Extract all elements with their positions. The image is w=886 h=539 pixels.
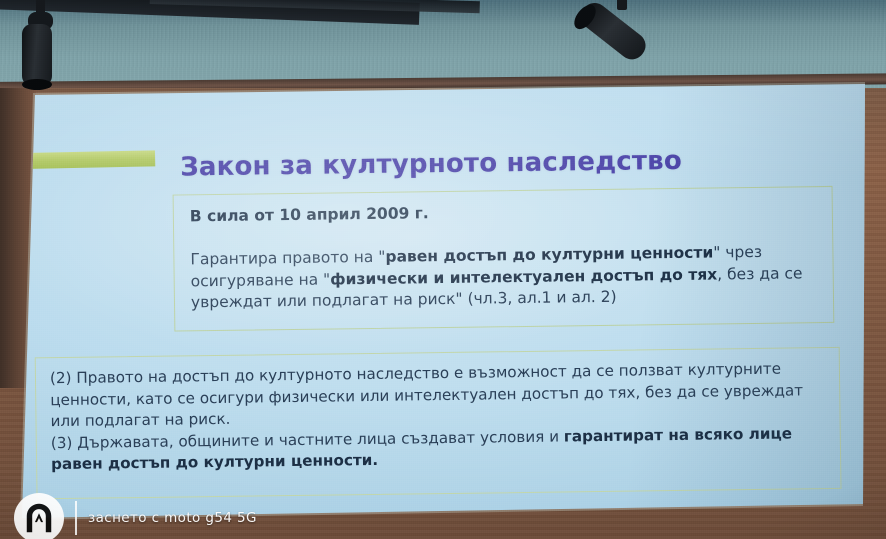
track-spotlight-right-icon xyxy=(575,0,675,68)
slide-text-box-top: В сила от 10 април 2009 г. Гарантира пра… xyxy=(173,186,835,332)
title-accent-bar xyxy=(29,150,155,169)
watermark-text: заснето с moto g54 5G xyxy=(88,510,257,526)
watermark-divider xyxy=(75,501,77,535)
slide-content: Закон за културното наследство В сила от… xyxy=(19,78,873,523)
guarantee-paragraph: Гарантира правото на "равен достъп до ку… xyxy=(190,241,816,314)
motorola-batwing-logo-icon xyxy=(14,493,64,539)
page-title: Закон за културното наследство xyxy=(180,145,800,183)
slide-text-box-bottom: (2) Правото на достъп до културното насл… xyxy=(35,347,842,500)
articles-paragraph: (2) Правото на достъп до културното насл… xyxy=(50,358,831,476)
projection-screen: Закон за културното наследство В сила от… xyxy=(22,84,870,518)
track-spotlight-left-icon xyxy=(6,0,96,91)
photo-of-projected-slide: Закон за културното наследство В сила от… xyxy=(0,0,886,539)
spotlight-lens xyxy=(22,79,52,90)
effective-date-line: В сила от 10 април 2009 г. xyxy=(190,204,429,225)
camera-watermark: заснето с moto g54 5G xyxy=(14,493,257,539)
spotlight-stem xyxy=(617,0,627,10)
spotlight-barrel xyxy=(22,24,52,86)
